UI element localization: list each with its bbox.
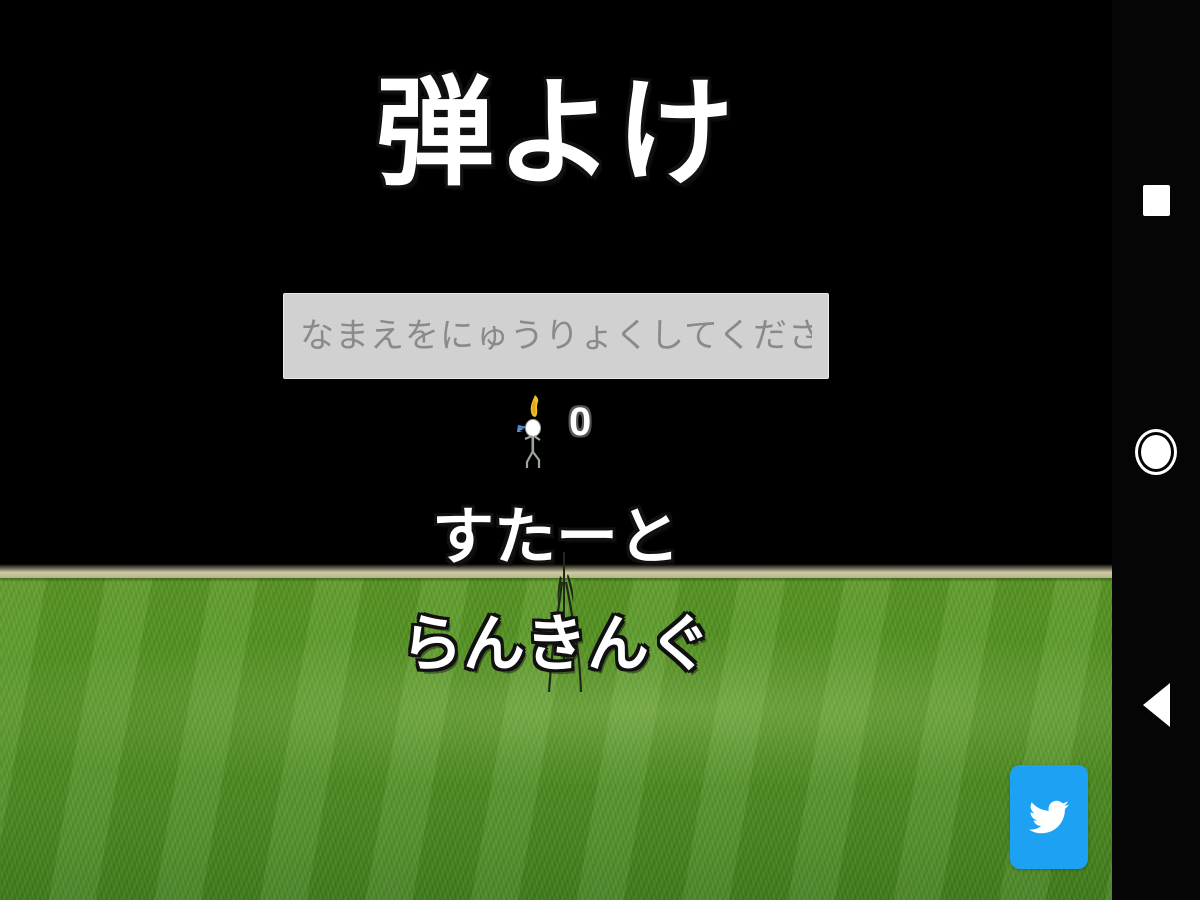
stick-figure-player-icon [505,392,565,468]
triangle-left-icon [1143,683,1170,727]
game-viewport[interactable]: 弾よけ 0 [0,0,1112,900]
menu-item-start[interactable]: すたーと [0,505,1112,571]
twitter-share-button[interactable] [1010,765,1088,869]
android-navigation-bar [1112,0,1200,900]
nav-back-button[interactable] [1112,661,1200,749]
circle-icon [1135,429,1177,475]
menu-item-ranking[interactable]: らんきんぐ [0,612,1112,678]
square-icon [1143,185,1170,216]
player-name-input[interactable] [283,293,829,379]
nav-home-button[interactable] [1112,408,1200,496]
device-screen: 弾よけ 0 [0,0,1200,900]
player-sprite-area: 0 [505,392,625,468]
score-display: 0 [569,402,591,442]
nav-recents-button[interactable] [1112,156,1200,244]
game-title: 弾よけ [0,74,1112,194]
twitter-bird-icon [1026,797,1072,837]
